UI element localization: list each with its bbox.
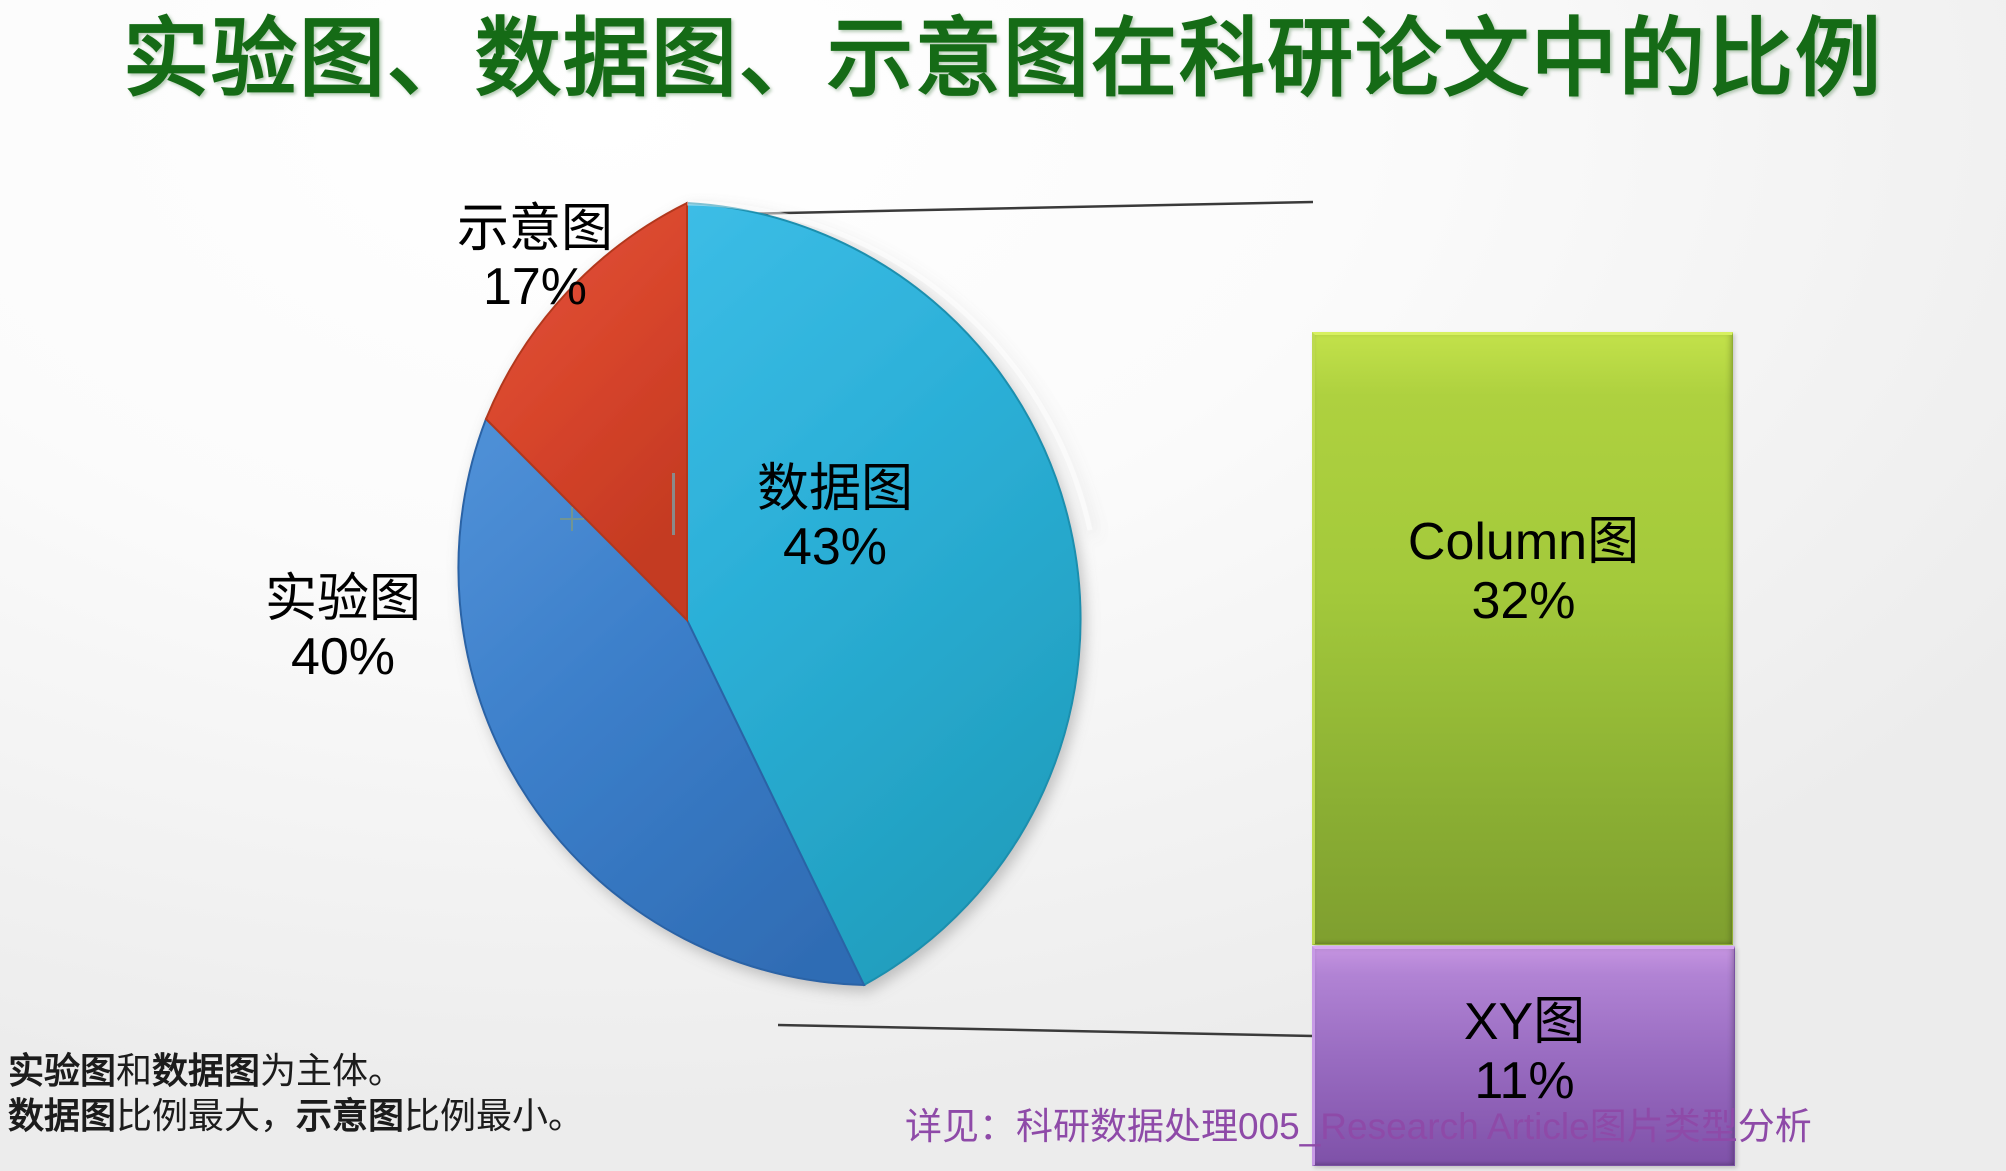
slide-canvas: 实验图、数据图、示意图在科研论文中的比例 bbox=[0, 0, 2006, 1171]
page-title: 实验图、数据图、示意图在科研论文中的比例 bbox=[0, 6, 2006, 114]
note1-plain-b: 为主体。 bbox=[260, 1050, 404, 1091]
reference-footer: 详见：科研数据处理005_Research Article图片类型分析 bbox=[905, 1096, 1812, 1150]
summary-note-line-2: 数据图比例最大，示意图比例最小。 bbox=[8, 1093, 584, 1138]
note2-plain-b: 比例最小。 bbox=[404, 1095, 584, 1136]
bar-segment-column[interactable]: Column图 32% bbox=[1312, 332, 1733, 945]
note1-bold-b: 数据图 bbox=[152, 1050, 260, 1091]
note1-bold-a: 实验图 bbox=[8, 1050, 116, 1091]
note2-plain-a: 比例最大， bbox=[116, 1095, 296, 1136]
bar-of-pie-chart[interactable]: 示意图 17% 数据图 43% 实验图 40% Column图 32% XY图 … bbox=[0, 130, 2006, 1070]
pie-body bbox=[458, 203, 1090, 985]
summary-notes: 实验图和数据图为主体。 数据图比例最大，示意图比例最小。 bbox=[8, 1048, 584, 1139]
bar-label-xy-name: XY图 bbox=[1315, 993, 1734, 1052]
text-caret bbox=[672, 473, 675, 535]
summary-note-line-1: 实验图和数据图为主体。 bbox=[8, 1048, 584, 1093]
note1-plain-a: 和 bbox=[116, 1050, 152, 1091]
note2-bold-a: 数据图 bbox=[8, 1095, 116, 1136]
bar-label-xy: XY图 11% bbox=[1315, 993, 1734, 1112]
bar-label-column: Column图 32% bbox=[1315, 513, 1732, 632]
selection-crosshair-icon bbox=[560, 507, 584, 531]
bar-label-column-name: Column图 bbox=[1315, 513, 1732, 572]
note2-bold-b: 示意图 bbox=[296, 1095, 404, 1136]
bar-label-column-percent: 32% bbox=[1315, 572, 1732, 631]
